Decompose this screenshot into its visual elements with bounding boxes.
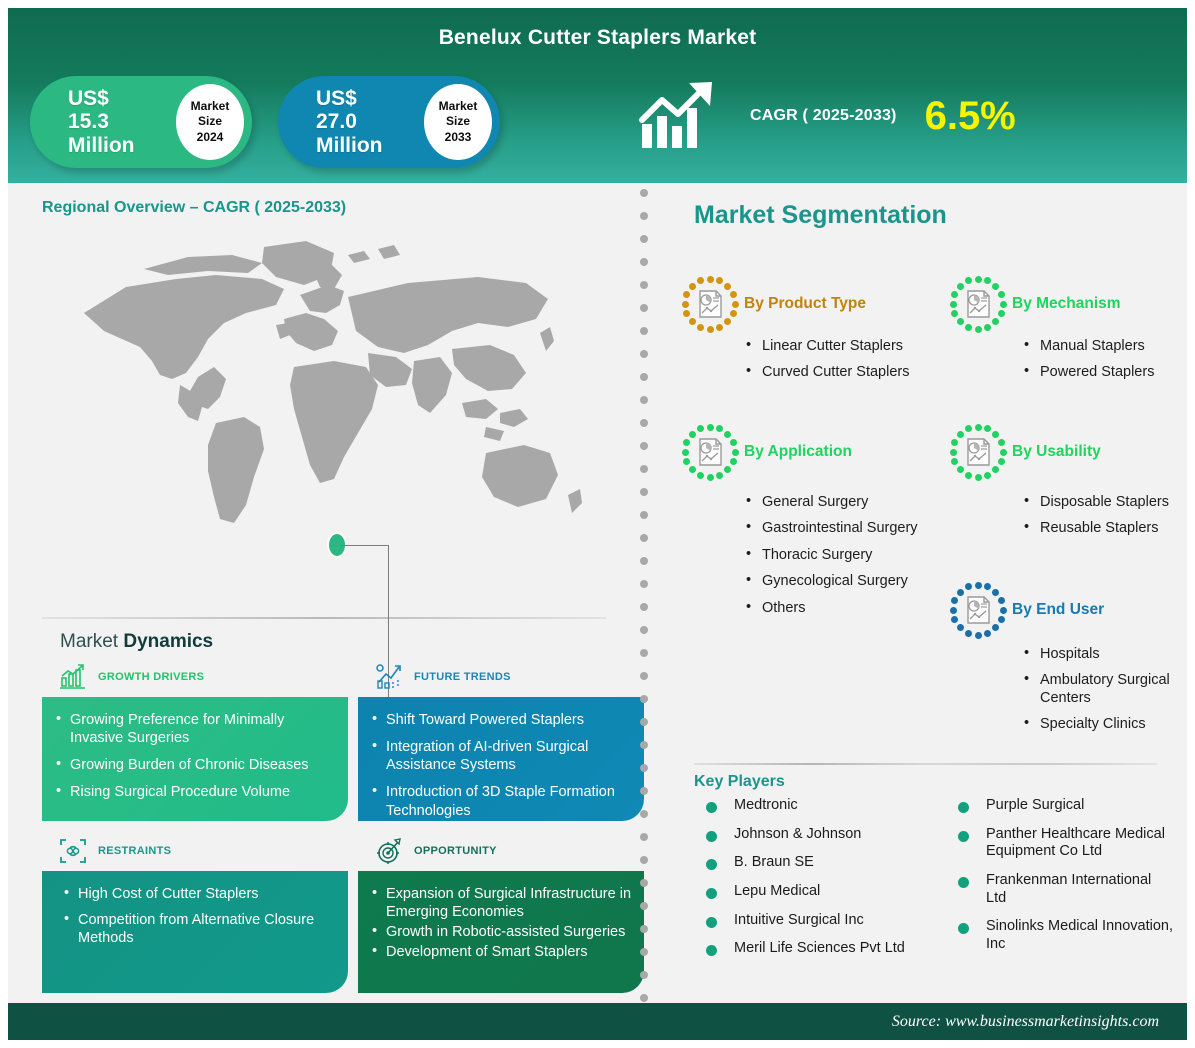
- list-item: Expansion of Surgical Infrastructure in …: [372, 885, 632, 921]
- ring-dot: [975, 582, 982, 589]
- ring-dot: [965, 277, 972, 284]
- dynamics-card-label: OPPORTUNITY: [414, 845, 497, 857]
- ring-dot: [716, 472, 723, 479]
- list-item: Medtronic: [698, 797, 946, 815]
- list-item: Gynecological Surgery: [744, 573, 950, 590]
- divider-dot: [640, 994, 648, 1002]
- divider-dot: [640, 925, 648, 933]
- ring-dot: [683, 458, 690, 465]
- list-item: Curved Cutter Staplers: [744, 364, 932, 381]
- segment-group-label: By Application: [744, 443, 852, 461]
- amount-2033: 27.0: [316, 110, 383, 134]
- divider-dot: [640, 879, 648, 887]
- divider-dot: [640, 189, 648, 197]
- divider-dot: [640, 350, 648, 358]
- market-size-value-2033: US$ 27.0 Million: [278, 87, 383, 158]
- ring-dot: [950, 607, 957, 614]
- divider-dot: [640, 212, 648, 220]
- list-item: Competition from Alternative Closure Met…: [64, 911, 336, 947]
- badge-line-2: Size: [198, 114, 222, 129]
- page-title: Benelux Cutter Staplers Market: [8, 8, 1187, 50]
- divider-dot: [640, 396, 648, 404]
- ring-dot: [716, 277, 723, 284]
- ring-dot: [965, 583, 972, 590]
- divider-dot: [640, 971, 648, 979]
- dynamics-card-header: OPPORTUNITY: [358, 831, 644, 871]
- list-item: Meril Life Sciences Pvt Ltd: [698, 940, 946, 958]
- unit-2033: Million: [316, 134, 383, 158]
- segment-group-header: By Mechanism: [950, 276, 1195, 332]
- ring-dot: [984, 472, 991, 479]
- market-dynamics-title: Market Dynamics: [60, 631, 618, 653]
- ring-dot: [998, 597, 1005, 604]
- divider-dot: [640, 488, 648, 496]
- list-item: Manual Staplers: [1022, 338, 1195, 355]
- market-dynamics-title-bold: Dynamics: [123, 631, 213, 652]
- dynamics-item-list: Growing Preference for Minimally Invasiv…: [56, 711, 336, 802]
- ring-dot: [732, 301, 739, 308]
- divider-dot: [640, 465, 648, 473]
- dynamics-card-opportunity: OPPORTUNITY Expansion of Surgical Infras…: [358, 831, 644, 993]
- growth-bar-chart-arrow-icon: [636, 80, 722, 152]
- amount-2024: 15.3: [68, 110, 135, 134]
- chain-link-restraint-icon: [58, 836, 88, 866]
- segment-group-by-usability: By Usability Disposable Staplers Reusabl…: [950, 424, 1195, 547]
- ring-dot: [716, 324, 723, 331]
- header-banner: Benelux Cutter Staplers Market US$ 15.3 …: [8, 8, 1187, 183]
- market-size-pill-2024: US$ 15.3 Million Market Size 2024: [30, 76, 252, 168]
- ring-dot: [992, 466, 999, 473]
- segment-group-header: By End User: [950, 582, 1195, 638]
- divider-dot: [640, 258, 648, 266]
- dynamics-card-label: GROWTH DRIVERS: [98, 671, 204, 683]
- list-item: Integration of AI-driven Surgical Assist…: [372, 738, 632, 774]
- ring-dot: [975, 632, 982, 639]
- ring-dot: [730, 439, 737, 446]
- report-document-dots-icon: [950, 424, 1006, 480]
- ring-dot: [724, 283, 731, 290]
- list-item: Reusable Staplers: [1022, 520, 1195, 537]
- right-panel: Market Segmentation: [658, 183, 1187, 1003]
- ring-dot: [992, 318, 999, 325]
- dynamics-item-list: Expansion of Surgical Infrastructure in …: [372, 885, 632, 962]
- world-map-area: Benelux 6.5%: [30, 221, 618, 611]
- ring-dot: [951, 597, 958, 604]
- segment-item-list: Hospitals Ambulatory Surgical Centers Sp…: [1022, 646, 1195, 734]
- badge-line-1: Market: [191, 99, 230, 114]
- document-chart-glyph: [964, 437, 994, 467]
- cagr-block: CAGR ( 2025-2033) 6.5%: [636, 80, 1016, 152]
- segment-group-header: By Application: [682, 424, 950, 480]
- ring-dot: [1000, 449, 1007, 456]
- list-item: High Cost of Cutter Staplers: [64, 885, 336, 903]
- divider-dot: [640, 304, 648, 312]
- list-item: Purple Surgical: [950, 797, 1173, 815]
- ring-dot: [975, 276, 982, 283]
- ring-dot: [951, 310, 958, 317]
- report-document-dots-icon: [682, 276, 738, 332]
- divider-dot: [640, 718, 648, 726]
- list-item: Ambulatory Surgical Centers: [1022, 672, 1195, 707]
- segment-group-header: By Product Type: [682, 276, 932, 332]
- badge-line-2: Size: [446, 114, 470, 129]
- list-item: Others: [744, 600, 950, 617]
- dynamics-card-label: FUTURE TRENDS: [414, 671, 511, 683]
- dynamics-item-list: High Cost of Cutter Staplers Competition…: [64, 885, 336, 947]
- market-size-badge-2033: Market Size 2033: [424, 84, 492, 160]
- divider-dot: [640, 281, 648, 289]
- ring-dot: [998, 310, 1005, 317]
- divider-dot: [640, 580, 648, 588]
- ring-dot: [965, 324, 972, 331]
- divider-dot: [640, 948, 648, 956]
- ring-dot: [730, 310, 737, 317]
- left-panel: Regional Overview – CAGR ( 2025-2033): [8, 183, 630, 1003]
- dynamics-card-header: FUTURE TRENDS: [358, 657, 644, 697]
- list-item: Growing Burden of Chronic Diseases: [56, 756, 336, 774]
- ring-dot: [697, 324, 704, 331]
- segment-item-list: General Surgery Gastrointestinal Surgery…: [744, 494, 950, 617]
- body-content: Regional Overview – CAGR ( 2025-2033): [8, 183, 1187, 1003]
- market-size-pills: US$ 15.3 Million Market Size 2024 US$ 27…: [30, 76, 500, 168]
- market-size-value-2024: US$ 15.3 Million: [30, 87, 135, 158]
- segment-group-by-end-user: By End User Hospitals Ambulatory Surgica…: [950, 582, 1195, 743]
- ring-dot: [732, 449, 739, 456]
- ring-dot: [998, 616, 1005, 623]
- dynamics-item-list: Shift Toward Powered Staplers Integratio…: [372, 711, 632, 820]
- ring-dot: [992, 589, 999, 596]
- segment-group-by-mechanism: By Mechanism Manual Staplers Powered Sta…: [950, 276, 1195, 391]
- ring-dot: [998, 458, 1005, 465]
- divider-dot: [640, 557, 648, 565]
- segment-item-list: Disposable Staplers Reusable Staplers: [1022, 494, 1195, 538]
- ring-dot: [689, 466, 696, 473]
- list-item: Thoracic Surgery: [744, 547, 950, 564]
- divider-dot: [640, 511, 648, 519]
- ring-dot: [689, 283, 696, 290]
- currency-label-2033: US$: [316, 87, 383, 111]
- source-text: Source: www.businessmarketinsights.com: [892, 1013, 1159, 1031]
- ring-dot: [965, 630, 972, 637]
- document-chart-glyph: [696, 289, 726, 319]
- ring-dot: [957, 318, 964, 325]
- divider-dot: [640, 626, 648, 634]
- ring-dot: [689, 431, 696, 438]
- segment-group-label: By End User: [1012, 601, 1104, 619]
- ring-dot: [707, 474, 714, 481]
- list-item: Disposable Staplers: [1022, 494, 1195, 511]
- dynamics-card-body: High Cost of Cutter Staplers Competition…: [42, 871, 348, 993]
- ring-dot: [951, 458, 958, 465]
- ring-dot: [724, 318, 731, 325]
- ring-dot: [951, 291, 958, 298]
- ring-dot: [965, 425, 972, 432]
- list-item: Rising Surgical Procedure Volume: [56, 783, 336, 801]
- ring-dot: [992, 624, 999, 631]
- badge-line-3: 2024: [197, 130, 224, 145]
- key-players-divider: [694, 763, 1157, 765]
- divider-dot: [640, 534, 648, 542]
- ring-dot: [957, 589, 964, 596]
- dynamics-card-future-trends: FUTURE TRENDS Shift Toward Powered Stapl…: [358, 657, 644, 821]
- list-item: Growth in Robotic-assisted Surgeries: [372, 923, 632, 941]
- ring-dot: [984, 630, 991, 637]
- ring-dot: [950, 449, 957, 456]
- key-players-column-left: Medtronic Johnson & Johnson B. Braun SE …: [698, 797, 946, 969]
- ring-dot: [724, 466, 731, 473]
- vertical-dotted-divider: [630, 183, 658, 1003]
- dynamics-card-header: RESTRAINTS: [42, 831, 348, 871]
- ring-dot: [951, 616, 958, 623]
- world-map: [48, 227, 608, 557]
- ring-dot: [984, 277, 991, 284]
- ring-dot: [992, 283, 999, 290]
- ring-dot: [975, 474, 982, 481]
- segmentation-area: By Product Type Linear Cutter Staplers C…: [672, 234, 1173, 759]
- ring-dot: [975, 326, 982, 333]
- report-document-dots-icon: [682, 424, 738, 480]
- list-item: Panther Healthcare Medical Equipment Co …: [950, 826, 1173, 861]
- unit-2024: Million: [68, 134, 135, 158]
- divider-dot: [640, 787, 648, 795]
- ring-dot: [975, 424, 982, 431]
- market-dynamics-title-light: Market: [60, 631, 123, 652]
- dynamics-card-body: Expansion of Surgical Infrastructure in …: [358, 871, 644, 993]
- list-item: Hospitals: [1022, 646, 1195, 663]
- list-item: Specialty Clinics: [1022, 716, 1195, 733]
- cagr-label: CAGR ( 2025-2033): [750, 107, 897, 125]
- ring-dot: [1000, 607, 1007, 614]
- badge-line-1: Market: [439, 99, 478, 114]
- report-document-dots-icon: [950, 276, 1006, 332]
- trend-line-chart-icon: [374, 662, 404, 692]
- regional-overview-title: Regional Overview – CAGR ( 2025-2033): [42, 199, 618, 217]
- list-item: General Surgery: [744, 494, 950, 511]
- segment-item-list: Manual Staplers Powered Staplers: [1022, 338, 1195, 382]
- bar-chart-growth-icon: [58, 662, 88, 692]
- document-chart-glyph: [696, 437, 726, 467]
- list-item: Introduction of 3D Staple Formation Tech…: [372, 783, 632, 819]
- ring-dot: [730, 291, 737, 298]
- ring-dot: [984, 324, 991, 331]
- segment-group-label: By Mechanism: [1012, 295, 1121, 313]
- target-gear-opportunity-icon: [374, 836, 404, 866]
- list-item: Lepu Medical: [698, 883, 946, 901]
- ring-dot: [697, 425, 704, 432]
- market-size-badge-2024: Market Size 2024: [176, 84, 244, 160]
- divider-dot: [640, 442, 648, 450]
- divider-dot: [640, 741, 648, 749]
- ring-dot: [950, 301, 957, 308]
- report-document-dots-icon: [950, 582, 1006, 638]
- divider-dot: [640, 672, 648, 680]
- ring-dot: [951, 439, 958, 446]
- document-chart-glyph: [964, 289, 994, 319]
- dynamics-card-body: Shift Toward Powered Staplers Integratio…: [358, 697, 644, 821]
- callout-leader-horizontal: [340, 545, 389, 546]
- list-item: Growing Preference for Minimally Invasiv…: [56, 711, 336, 747]
- ring-dot: [984, 583, 991, 590]
- dynamics-card-growth-drivers: GROWTH DRIVERS Growing Preference for Mi…: [42, 657, 348, 821]
- ring-dot: [965, 472, 972, 479]
- divider-dot: [640, 833, 648, 841]
- key-players-title: Key Players: [694, 773, 1173, 791]
- ring-dot: [689, 318, 696, 325]
- list-item: Frankenman International Ltd: [950, 872, 1173, 907]
- segment-group-label: By Usability: [1012, 443, 1101, 461]
- list-item: Intuitive Surgical Inc: [698, 912, 946, 930]
- divider-dot: [640, 327, 648, 335]
- badge-line-3: 2033: [445, 130, 472, 145]
- divider-dot: [640, 235, 648, 243]
- ring-dot: [682, 301, 689, 308]
- list-item: Sinolinks Medical Innovation, Inc: [950, 918, 1173, 953]
- dynamics-card-body: Growing Preference for Minimally Invasiv…: [42, 697, 348, 821]
- ring-dot: [957, 466, 964, 473]
- ring-dot: [992, 431, 999, 438]
- currency-label-2024: US$: [68, 87, 135, 111]
- ring-dot: [697, 277, 704, 284]
- list-item: Development of Smart Staplers: [372, 943, 632, 961]
- market-segmentation-title: Market Segmentation: [694, 201, 1173, 230]
- cagr-value: 6.5%: [925, 96, 1016, 136]
- ring-dot: [682, 449, 689, 456]
- divider-dot: [640, 603, 648, 611]
- ring-dot: [724, 431, 731, 438]
- ring-dot: [683, 310, 690, 317]
- ring-dot: [1000, 301, 1007, 308]
- ring-dot: [984, 425, 991, 432]
- ring-dot: [683, 439, 690, 446]
- list-item: Gastrointestinal Surgery: [744, 520, 950, 537]
- segment-group-label: By Product Type: [744, 295, 866, 313]
- ring-dot: [998, 291, 1005, 298]
- segment-group-by-product-type: By Product Type Linear Cutter Staplers C…: [682, 276, 932, 391]
- ring-dot: [697, 472, 704, 479]
- ring-dot: [716, 425, 723, 432]
- dynamics-card-restraints: RESTRAINTS High Cost of Cutter Staplers …: [42, 831, 348, 993]
- footer-bar: Source: www.businessmarketinsights.com: [8, 1003, 1187, 1040]
- divider-dot: [640, 649, 648, 657]
- divider-dot: [640, 419, 648, 427]
- list-item: B. Braun SE: [698, 854, 946, 872]
- divider-dot: [640, 695, 648, 703]
- ring-dot: [957, 624, 964, 631]
- dynamics-card-header: GROWTH DRIVERS: [42, 657, 348, 697]
- market-dynamics-grid: GROWTH DRIVERS Growing Preference for Mi…: [42, 657, 618, 993]
- section-divider: [42, 617, 606, 619]
- list-item: Linear Cutter Staplers: [744, 338, 932, 355]
- divider-dot: [640, 810, 648, 818]
- list-item: Shift Toward Powered Staplers: [372, 711, 632, 729]
- dynamics-card-label: RESTRAINTS: [98, 845, 171, 857]
- infographic-root: Benelux Cutter Staplers Market US$ 15.3 …: [0, 0, 1195, 1048]
- key-players-column-right: Purple Surgical Panther Healthcare Medic…: [950, 797, 1173, 969]
- ring-dot: [683, 291, 690, 298]
- key-players-grid: Medtronic Johnson & Johnson B. Braun SE …: [698, 797, 1173, 969]
- market-size-pill-2033: US$ 27.0 Million Market Size 2033: [278, 76, 500, 168]
- list-item: Powered Staplers: [1022, 364, 1195, 381]
- ring-dot: [707, 424, 714, 431]
- segment-group-by-application: By Application General Surgery Gastroint…: [682, 424, 950, 626]
- ring-dot: [957, 283, 964, 290]
- divider-dot: [640, 856, 648, 864]
- divider-dot: [640, 764, 648, 772]
- ring-dot: [707, 276, 714, 283]
- segment-group-header: By Usability: [950, 424, 1195, 480]
- list-item: Johnson & Johnson: [698, 826, 946, 844]
- segment-item-list: Linear Cutter Staplers Curved Cutter Sta…: [744, 338, 932, 382]
- ring-dot: [998, 439, 1005, 446]
- divider-dot: [640, 373, 648, 381]
- ring-dot: [957, 431, 964, 438]
- ring-dot: [707, 326, 714, 333]
- divider-dot: [640, 902, 648, 910]
- ring-dot: [730, 458, 737, 465]
- document-chart-glyph: [964, 595, 994, 625]
